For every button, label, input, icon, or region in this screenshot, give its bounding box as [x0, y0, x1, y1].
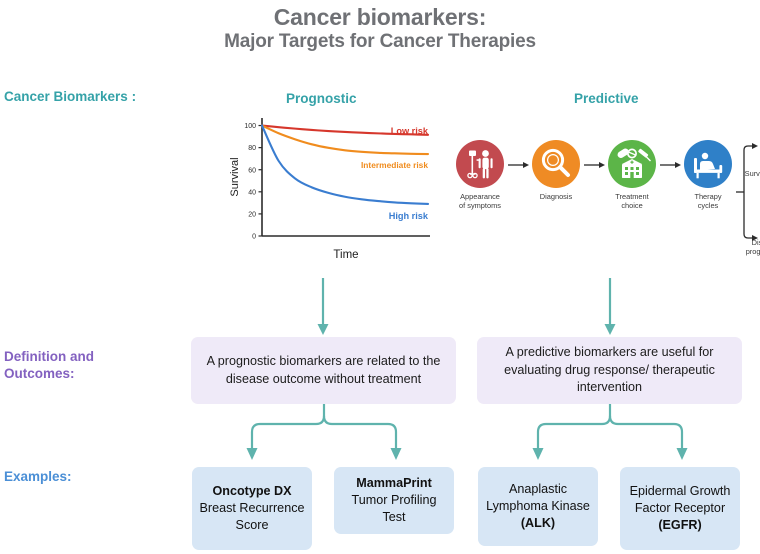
- connector-predictive-down: [603, 278, 617, 336]
- pathway-step-treatment-choice: [608, 140, 656, 188]
- page-subtitle: Major Targets for Cancer Therapies: [0, 31, 760, 53]
- predictive-pathway: Appearanceof symptoms Diagnosis: [452, 128, 760, 268]
- row-label-definition-line1: Definition and: [4, 349, 94, 364]
- pathway-caption-disease-progression: Diseaseprogression: [727, 238, 760, 256]
- example-box-egfr: Epidermal Growth Factor Receptor (EGFR): [620, 467, 740, 550]
- example-box-alk: Anaplastic Lymphoma Kinase (ALK): [478, 467, 598, 546]
- diagram-canvas: Cancer biomarkers: Major Targets for Can…: [0, 0, 760, 554]
- page-title: Cancer biomarkers:: [0, 4, 760, 31]
- connector-prognostic-split: [238, 404, 410, 466]
- survival-curve-chart: 020406080100 Low risk Intermediate risk …: [214, 112, 432, 272]
- legend-label-low-risk: Low risk: [391, 126, 429, 136]
- definition-box-predictive: A predictive biomarkers are useful for e…: [477, 337, 742, 404]
- pathway-caption-treatment-choice: Treatmentchoice: [599, 192, 665, 210]
- pathway-caption-diagnosis: Diagnosis: [523, 192, 589, 201]
- svg-text:100: 100: [244, 123, 256, 130]
- pathway-caption-therapy-cycles: Therapycycles: [675, 192, 741, 210]
- column-head-prognostic: Prognostic: [286, 91, 357, 106]
- legend-label-high-risk: High risk: [389, 211, 429, 221]
- connector-prognostic-down: [316, 278, 330, 336]
- chart-y-axis-label: Survival: [229, 157, 241, 196]
- svg-text:40: 40: [248, 189, 256, 196]
- svg-text:60: 60: [248, 167, 256, 174]
- example-text-oncotype-dx: Oncotype DX Breast Recurrence Score: [198, 483, 306, 534]
- pathway-caption-survivorship: Survivorship: [727, 169, 760, 178]
- column-head-predictive: Predictive: [574, 91, 639, 106]
- pathway-arrow-1: [508, 161, 530, 169]
- hospital-bed-icon: [684, 140, 732, 188]
- row-label-definition-outcomes: Definition and Outcomes:: [4, 349, 154, 383]
- pathway-step-therapy-cycles: [684, 140, 732, 188]
- pathway-caption-appearance-of-symptoms: Appearanceof symptoms: [447, 192, 513, 210]
- svg-text:80: 80: [248, 145, 256, 152]
- chart-x-axis-label: Time: [333, 249, 358, 261]
- example-text-alk: Anaplastic Lymphoma Kinase (ALK): [484, 481, 592, 532]
- row-label-examples: Examples:: [4, 469, 72, 486]
- row-label-cancer-biomarkers: Cancer Biomarkers :: [4, 89, 136, 106]
- svg-text:20: 20: [248, 212, 256, 219]
- definition-box-prognostic: A prognostic biomarkers are related to t…: [191, 337, 456, 404]
- example-text-egfr: Epidermal Growth Factor Receptor (EGFR): [626, 483, 734, 534]
- example-text-mammaprint: MammaPrint Tumor Profiling Test: [340, 475, 448, 526]
- pathway-branch-connector: [734, 136, 760, 248]
- pathway-arrow-2: [584, 161, 606, 169]
- pathway-step-diagnosis: [532, 140, 580, 188]
- chart-y-tick-labels: 020406080100: [244, 123, 256, 240]
- hospital-pills-icon: [608, 140, 656, 188]
- legend-label-intermediate-risk: Intermediate risk: [361, 160, 428, 170]
- patient-iv-pole-icon: [456, 140, 504, 188]
- example-box-mammaprint: MammaPrint Tumor Profiling Test: [334, 467, 454, 534]
- example-box-oncotype-dx: Oncotype DX Breast Recurrence Score: [192, 467, 312, 550]
- row-label-definition-line2: Outcomes:: [4, 366, 75, 381]
- connector-predictive-split: [524, 404, 696, 466]
- pathway-arrow-3: [660, 161, 682, 169]
- magnifier-icon: [532, 140, 580, 188]
- pathway-step-appearance-of-symptoms: [456, 140, 504, 188]
- svg-text:0: 0: [252, 234, 256, 241]
